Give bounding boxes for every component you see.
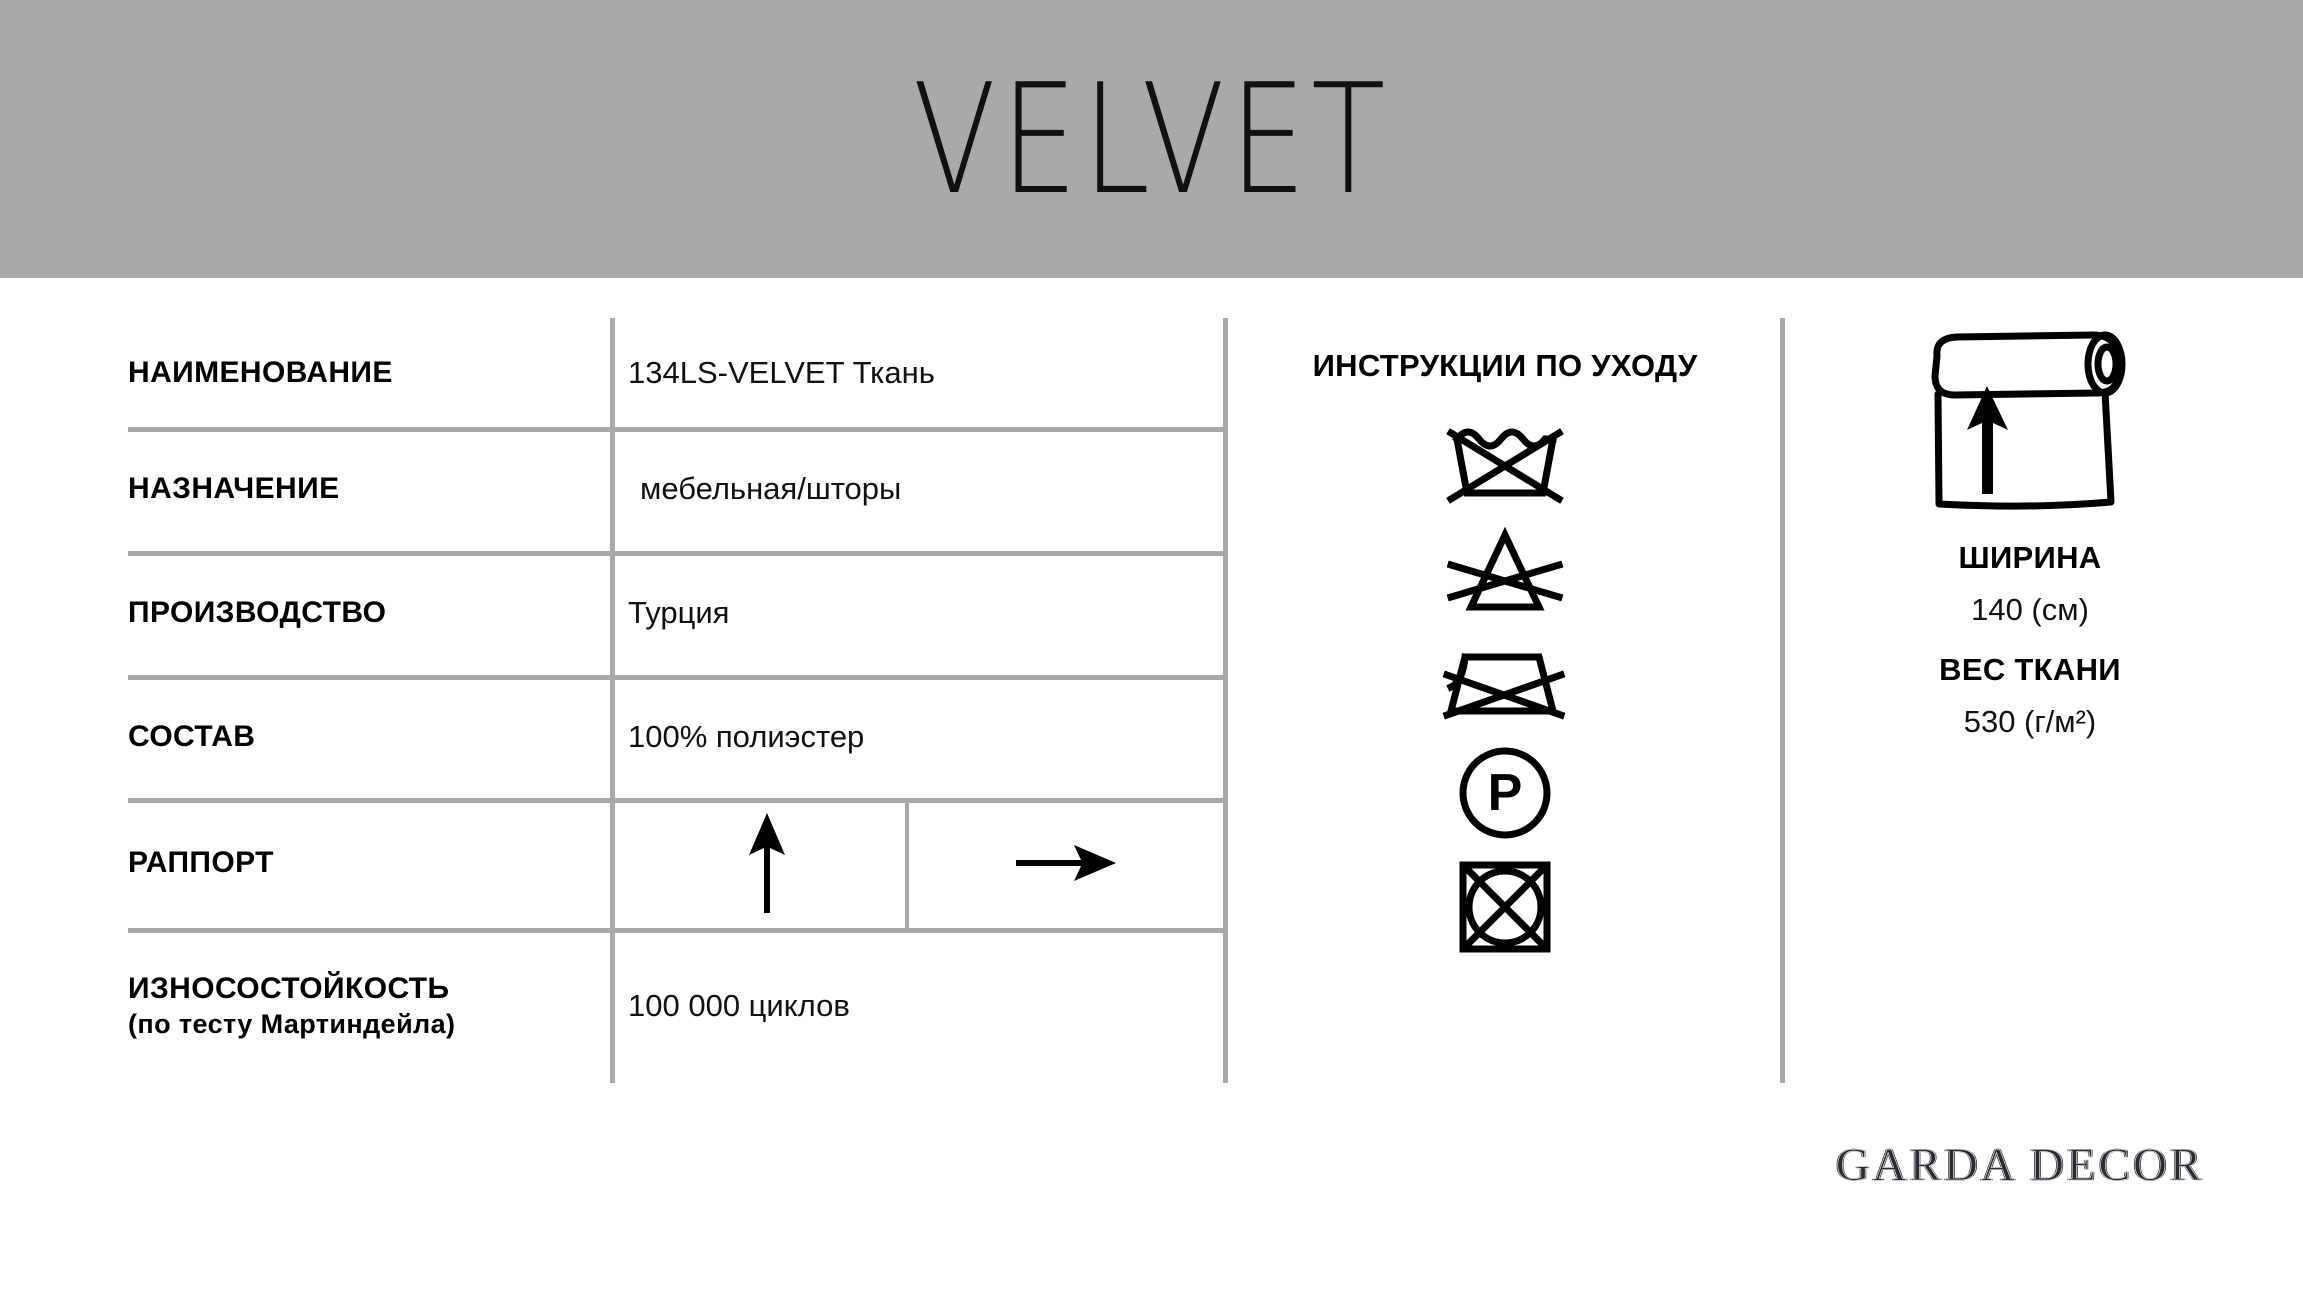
label-text: СОСТАВ	[128, 720, 598, 754]
row-label-production: ПРОИЗВОДСТВО	[128, 551, 598, 675]
fabric-spec-sheet: VELVET НАИМЕНОВАНИЕ 134LS-VELVET Ткань Н…	[0, 0, 2303, 1299]
care-instructions-heading: ИНСТРУКЦИИ ПО УХОДУ	[1255, 318, 1755, 413]
width-label: ШИРИНА	[1959, 540, 2102, 576]
rapport-horizontal-cell	[909, 798, 1223, 928]
label-text: ПРОИЗВОДСТВО	[128, 596, 598, 630]
row-label-rapport: РАППОРТ	[128, 798, 598, 928]
row-label-abrasion: ИЗНОСОСТОЙКОСТЬ (по тесту Мартиндейла)	[128, 928, 598, 1083]
row-label-purpose: НАЗНАЧЕНИЕ	[128, 427, 598, 551]
care-section-divider	[1780, 318, 1785, 1083]
row-value-abrasion: 100 000 циклов	[628, 928, 850, 1083]
row-value-purpose: мебельная/шторы	[640, 427, 901, 551]
do-not-iron-icon	[1435, 633, 1575, 729]
label-subtext: (по тесту Мартиндейла)	[128, 1009, 598, 1040]
page-title: VELVET	[230, 0, 2072, 278]
label-text: НАЗНАЧЕНИЕ	[128, 472, 598, 506]
row-label-composition: СОСТАВ	[128, 675, 598, 798]
weight-label: ВЕС ТКАНИ	[1939, 652, 2121, 688]
weight-value: 530 (г/м²)	[1964, 704, 2097, 740]
arrow-up-icon	[744, 811, 790, 915]
row-value-production: Турция	[628, 551, 729, 675]
brand-logo: GARDA DECOR	[1820, 1138, 2220, 1192]
rapport-vertical-cell	[628, 798, 905, 928]
width-value: 140 (см)	[1971, 592, 2089, 628]
label-text: ИЗНОСОСТОЙКОСТЬ	[128, 972, 598, 1006]
row-label-name: НАИМЕНОВАНИЕ	[128, 318, 598, 427]
do-not-tumble-dry-icon	[1435, 857, 1575, 957]
fabric-roll-icon	[1915, 326, 2145, 516]
spec-table: НАИМЕНОВАНИЕ 134LS-VELVET Ткань НАЗНАЧЕН…	[128, 318, 1228, 1083]
row-value-composition: 100% полиэстер	[628, 675, 864, 798]
row-value-name: 134LS-VELVET Ткань	[628, 318, 935, 427]
do-not-bleach-icon	[1435, 523, 1575, 619]
do-not-wash-icon	[1435, 413, 1575, 509]
arrow-right-icon	[1014, 840, 1118, 886]
dry-clean-letter: P	[1488, 764, 1523, 822]
label-text: РАППОРТ	[128, 846, 598, 880]
dry-clean-p-icon: P	[1435, 743, 1575, 843]
care-instructions-section: ИНСТРУКЦИИ ПО УХОДУ	[1255, 318, 1775, 1083]
label-text: НАИМЕНОВАНИЕ	[128, 356, 598, 390]
table-column-divider	[610, 318, 615, 1083]
table-right-border	[1223, 318, 1228, 1083]
roll-info-section: ШИРИНА 140 (см) ВЕС ТКАНИ 530 (г/м²)	[1800, 318, 2260, 818]
care-icon-list: P	[1255, 413, 1755, 957]
